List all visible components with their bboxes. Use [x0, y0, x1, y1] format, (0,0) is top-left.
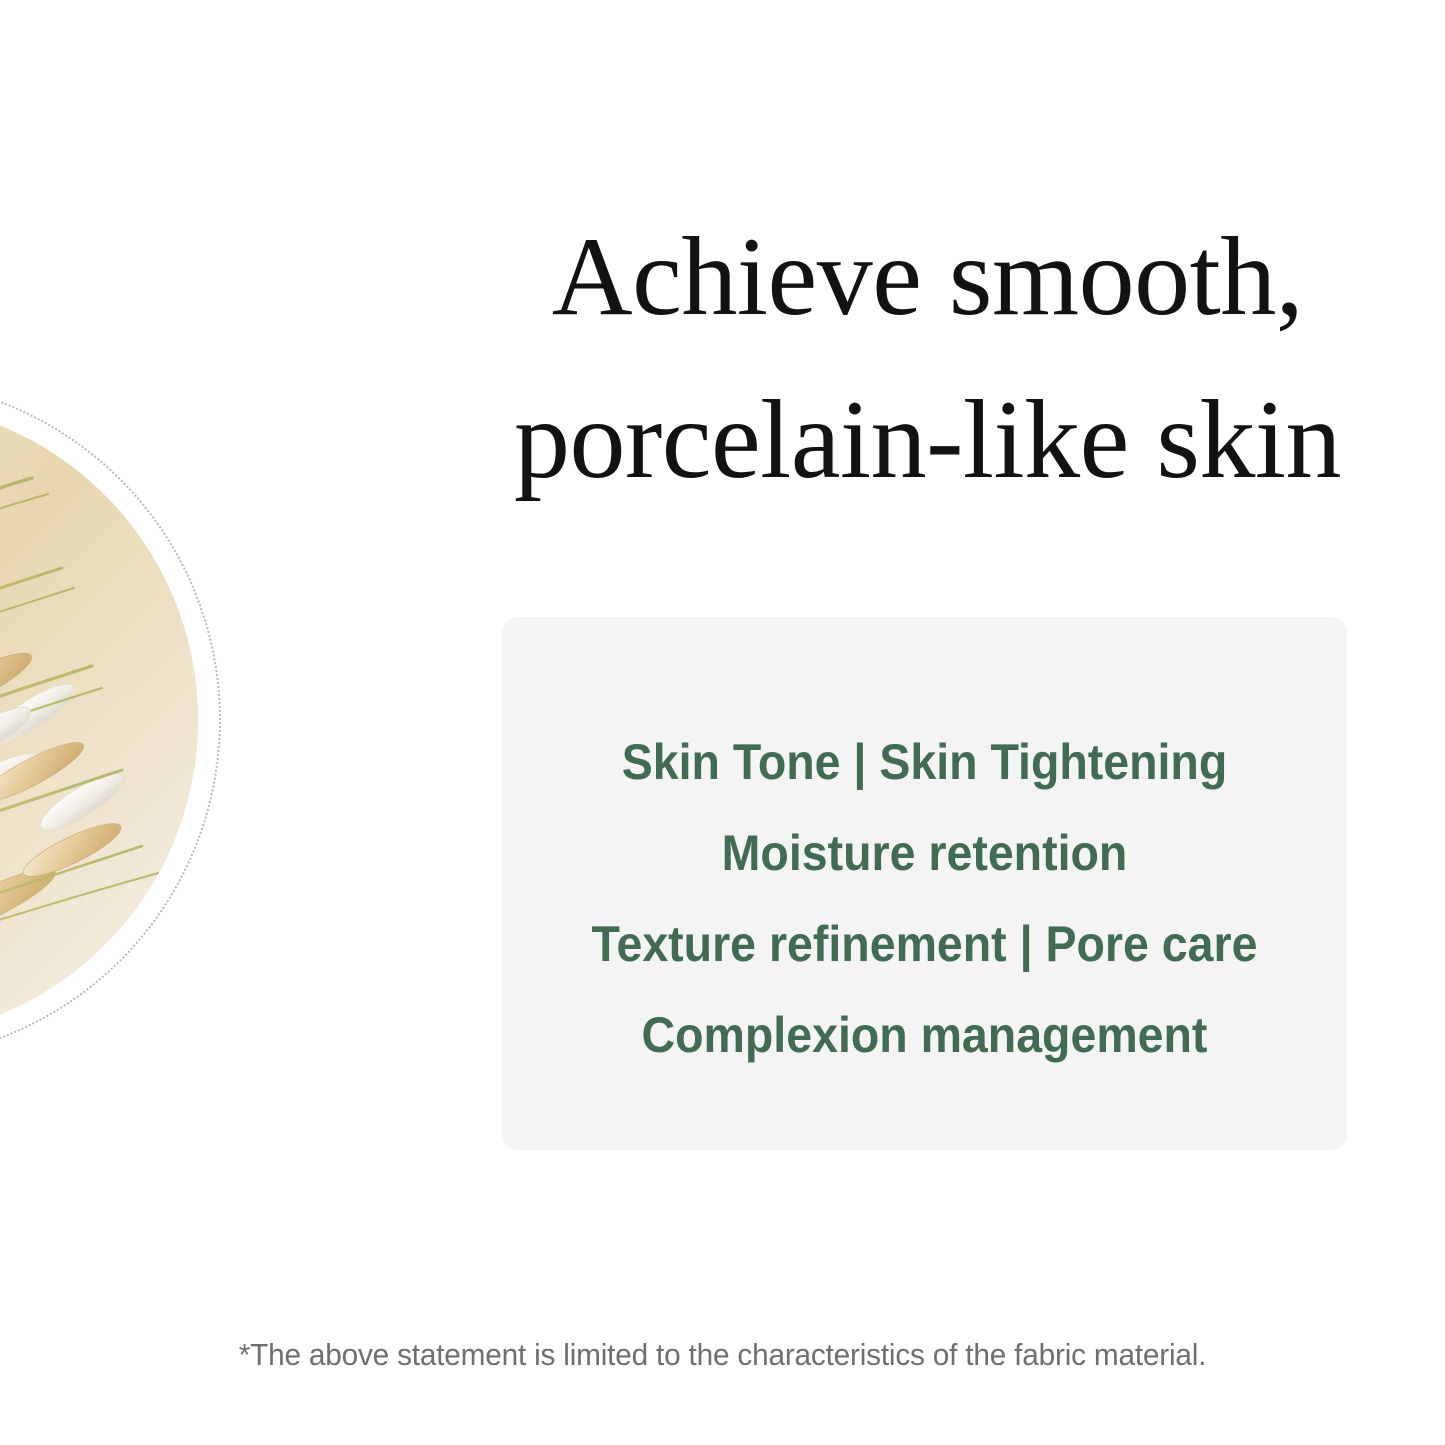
promo-page: Achieve smooth, porcelain-like skin Skin…: [0, 0, 1445, 1445]
disclaimer-footnote: *The above statement is limited to the c…: [29, 1335, 1416, 1375]
benefits-list: Skin Tone | Skin Tightening Moisture ret…: [502, 717, 1347, 1081]
page-title-line-2: porcelain-like skin: [440, 359, 1415, 522]
benefit-item: Complexion management: [532, 990, 1318, 1081]
rice-grains-and-paddy-stalks-photo: [0, 402, 198, 1038]
benefit-item: Skin Tone | Skin Tightening: [532, 717, 1318, 808]
page-title: Achieve smooth, porcelain-like skin: [440, 196, 1415, 522]
benefits-card: Skin Tone | Skin Tightening Moisture ret…: [502, 617, 1347, 1150]
page-title-line-1: Achieve smooth,: [440, 196, 1415, 359]
dotted-ring-decoration: [0, 379, 221, 1061]
benefit-item: Moisture retention: [532, 808, 1318, 899]
benefit-item: Texture refinement | Pore care: [532, 899, 1318, 990]
hero-image-circle: [0, 402, 198, 1038]
